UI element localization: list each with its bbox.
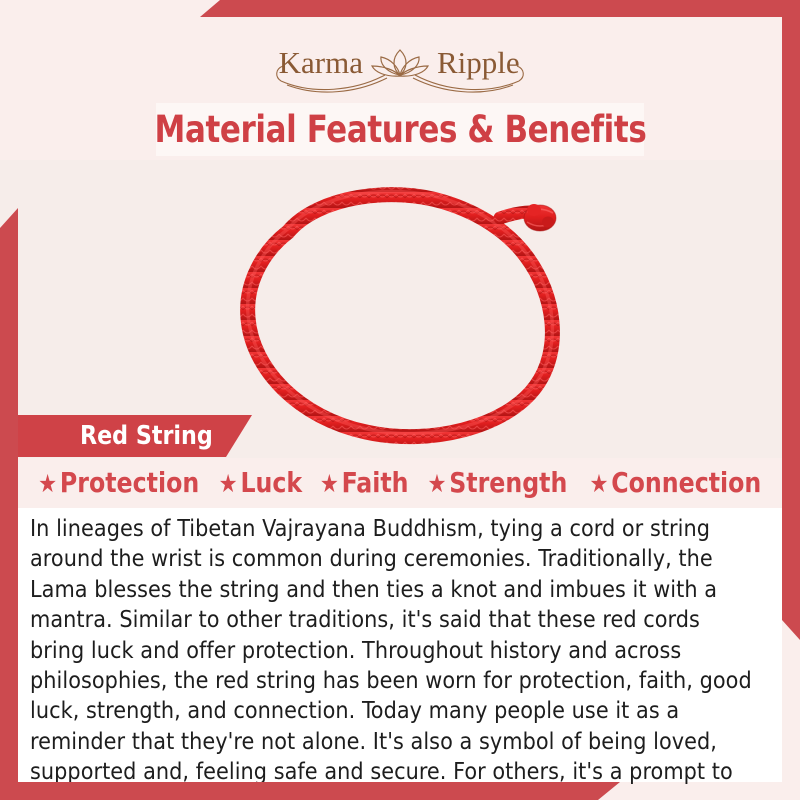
benefit-label: Luck (241, 469, 303, 497)
star-icon: ★ (38, 471, 57, 496)
product-name-label: Red String (23, 423, 213, 449)
bracelet-sliding-knot (524, 204, 556, 231)
star-icon: ★ (320, 471, 339, 496)
description-paragraph: In lineages of Tibetan Vajrayana Buddhis… (30, 513, 757, 800)
product-name-banner: Red String (18, 415, 252, 457)
brand-logo: Karma Ripple (0, 34, 800, 96)
benefit-item-luck: ★ Luck (219, 469, 303, 497)
benefit-item-faith: ★ Faith (320, 469, 409, 497)
benefit-item-connection: ★ Connection (590, 469, 762, 497)
benefit-label: Faith (342, 469, 409, 497)
frame-accent-left (0, 208, 18, 800)
page-title: Material Features & Benefits (154, 111, 646, 148)
benefit-item-protection: ★ Protection (38, 469, 199, 497)
description-panel: In lineages of Tibetan Vajrayana Buddhis… (18, 508, 782, 782)
benefit-label: Connection (612, 469, 762, 497)
star-icon: ★ (219, 471, 238, 496)
logo-word-left: Karma (279, 45, 364, 80)
star-icon: ★ (590, 471, 609, 496)
product-feature-card: Karma Ripple Material Features & Benefit… (0, 0, 800, 800)
frame-accent-right (782, 0, 800, 640)
benefits-list: ★ Protection ★ Luck ★ Faith ★ Strength ★… (18, 458, 782, 508)
logo-svg: Karma Ripple (235, 35, 565, 95)
frame-accent-top (200, 0, 800, 17)
page-title-band: Material Features & Benefits (156, 103, 644, 156)
logo-word-right: Ripple (437, 45, 520, 80)
star-icon: ★ (428, 471, 447, 496)
benefit-label: Strength (450, 469, 568, 497)
benefit-item-strength: ★ Strength (428, 469, 568, 497)
benefit-label: Protection (60, 469, 199, 497)
frame-accent-bottom (0, 782, 620, 800)
